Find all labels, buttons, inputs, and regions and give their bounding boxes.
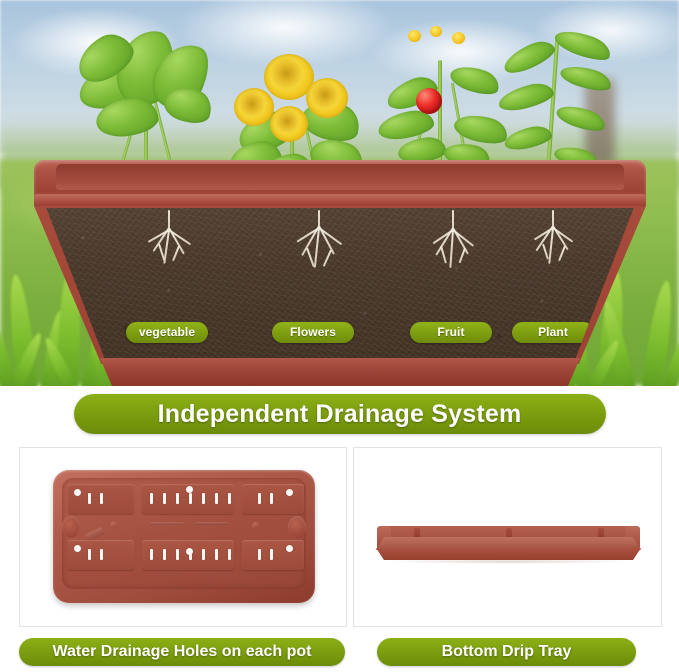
planter-underside-photo <box>53 470 315 603</box>
soil-tag-fruit: Fruit <box>410 322 492 343</box>
mold-ridge <box>150 522 184 525</box>
sunflower-head <box>306 78 348 118</box>
root-system-plant <box>520 210 592 276</box>
drainage-slot <box>163 493 166 504</box>
caption-drip-tray: Bottom Drip Tray <box>377 638 636 666</box>
drainage-slot <box>88 493 91 504</box>
drainage-slot <box>150 493 153 504</box>
banner-row: Independent Drainage System <box>0 392 679 436</box>
mold-boss <box>62 516 80 538</box>
tomato-flower <box>430 26 442 37</box>
drainage-slot <box>270 549 273 560</box>
mold-ridge <box>194 522 228 525</box>
planter-rim-inner <box>56 164 624 190</box>
soil-tag-flowers: Flowers <box>272 322 354 343</box>
panel-drainage-holes <box>19 447 347 627</box>
drainage-hole <box>186 486 193 493</box>
drainage-hole <box>286 489 293 496</box>
drainage-hole <box>286 545 293 552</box>
drainage-slot <box>202 493 205 504</box>
soil-fill: vegetable Flowers Fruit Plant <box>34 208 646 358</box>
tray-shadow <box>386 559 632 564</box>
drainage-slot <box>215 549 218 560</box>
tomato-flower <box>452 32 465 44</box>
drainage-slot <box>189 493 192 504</box>
tomato-flower <box>408 30 421 42</box>
drainage-slot <box>228 493 231 504</box>
drainage-hole <box>74 489 81 496</box>
drainage-slot <box>215 493 218 504</box>
leaf <box>558 61 613 95</box>
underside-inner-recess <box>62 478 306 589</box>
leaf <box>502 123 553 153</box>
drainage-slot <box>176 549 179 560</box>
drainage-slot <box>202 549 205 560</box>
leaf <box>500 36 558 78</box>
drainage-slot <box>228 549 231 560</box>
caption-drainage-holes: Water Drainage Holes on each pot <box>19 638 345 666</box>
leaf <box>496 80 556 115</box>
mold-boss <box>252 522 259 529</box>
planter-base <box>100 358 580 386</box>
drainage-slot <box>150 549 153 560</box>
slot-pad <box>242 540 304 570</box>
sunflower-head <box>234 88 274 126</box>
drainage-slot <box>258 493 261 504</box>
sunflower-head <box>270 106 308 142</box>
drainage-slot <box>270 493 273 504</box>
hero-image: vegetable Flowers Fruit Plant <box>0 0 679 386</box>
main-title-banner: Independent Drainage System <box>74 394 606 434</box>
soil-tag-plant: Plant <box>512 322 594 343</box>
leaf <box>554 101 608 135</box>
drainage-slot <box>100 493 103 504</box>
drainage-slot <box>100 549 103 560</box>
drainage-hole <box>74 545 81 552</box>
planter-box: vegetable Flowers Fruit Plant <box>34 160 646 386</box>
drainage-slot <box>163 549 166 560</box>
root-system-fruit <box>418 210 492 278</box>
mold-boss <box>288 516 306 538</box>
tomato-fruit <box>416 88 442 114</box>
slot-pad <box>142 540 234 570</box>
leaf <box>552 25 614 66</box>
plant-radish <box>60 22 230 182</box>
slot-pad <box>242 484 304 514</box>
drainage-slot <box>176 493 179 504</box>
drainage-slot <box>88 549 91 560</box>
root-system-flowers <box>282 210 358 280</box>
drainage-slot <box>258 549 261 560</box>
panel-drip-tray <box>353 447 662 627</box>
feature-panels: Water Drainage Holes on each pot Bottom … <box>0 447 679 672</box>
root-system-vegetable <box>134 210 204 274</box>
soil-tag-vegetable: vegetable <box>126 322 208 343</box>
drip-tray-photo <box>376 526 641 560</box>
drainage-hole <box>186 548 193 555</box>
mold-boss <box>110 522 117 529</box>
